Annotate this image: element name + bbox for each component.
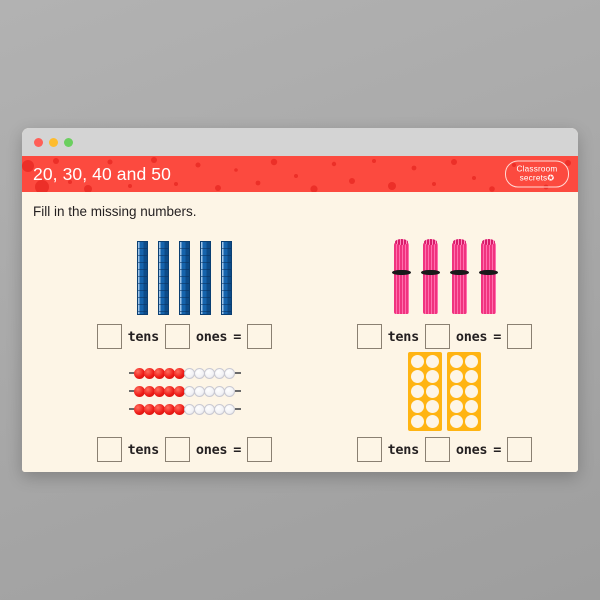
frame-dot: [426, 400, 439, 413]
ten-frames-group: [332, 347, 557, 435]
frame-dot: [450, 385, 463, 398]
frame-dot: [450, 415, 463, 428]
frame-dot: [450, 355, 463, 368]
bundle-tie: [392, 270, 411, 275]
frame-dot: [411, 400, 424, 413]
answer-row-4: tens ones =: [332, 437, 557, 462]
app-window: 20, 30, 40 and 50 Classroom secrets✪ Fil…: [22, 128, 578, 472]
answer-row-1: tens ones =: [72, 324, 297, 349]
frame-dot: [450, 400, 463, 413]
abacus-wire: [235, 390, 241, 392]
ten-rod: [179, 241, 190, 315]
tens-label: tens: [128, 442, 159, 458]
frame-dot: [465, 400, 478, 413]
classroom-secrets-logo: Classroom secrets✪: [505, 161, 569, 188]
frame-dot: [450, 370, 463, 383]
question-2: tens ones =: [332, 234, 557, 349]
instruction-text: Fill in the missing numbers.: [33, 204, 197, 219]
bundle-tie: [479, 270, 498, 275]
frame-dot: [465, 385, 478, 398]
blue-ten-rods-group: [72, 234, 297, 322]
total-input[interactable]: [507, 324, 532, 349]
total-input[interactable]: [247, 437, 272, 462]
straw-bundle: [481, 242, 496, 314]
bead-white: [224, 386, 235, 397]
ones-label: ones: [196, 329, 227, 345]
ones-input[interactable]: [165, 437, 190, 462]
answer-row-3: tens ones =: [72, 437, 297, 462]
frame-dot: [426, 370, 439, 383]
bundle-tie: [450, 270, 469, 275]
lesson-banner: 20, 30, 40 and 50 Classroom secrets✪: [22, 156, 578, 192]
frame-dot: [411, 370, 424, 383]
question-4: tens ones =: [332, 347, 557, 462]
bead-abacus: [129, 368, 241, 415]
tens-input[interactable]: [357, 437, 382, 462]
equals-sign: =: [233, 442, 241, 458]
frame-dot: [411, 415, 424, 428]
bundle-top: [395, 239, 408, 245]
ones-label: ones: [196, 442, 227, 458]
tens-input[interactable]: [357, 324, 382, 349]
abacus-wire: [235, 408, 241, 410]
equals-sign: =: [493, 442, 501, 458]
ten-rod: [137, 241, 148, 315]
tens-label: tens: [388, 329, 419, 345]
bead-white: [224, 404, 235, 415]
question-1: tens ones =: [72, 234, 297, 349]
ten-rod: [221, 241, 232, 315]
abacus-row: [129, 368, 241, 379]
straw-bundle: [452, 242, 467, 314]
frame-dot: [426, 385, 439, 398]
frame-dot: [411, 385, 424, 398]
zoom-button[interactable]: [64, 138, 73, 147]
straw-bundles-group: [332, 234, 557, 322]
tens-label: tens: [388, 442, 419, 458]
bead-white: [224, 368, 235, 379]
frame-dot: [465, 355, 478, 368]
frame-dot: [411, 355, 424, 368]
ten-rod: [158, 241, 169, 315]
total-input[interactable]: [247, 324, 272, 349]
logo-line-1: Classroom: [517, 165, 558, 173]
abacus-wire: [235, 372, 241, 374]
straw-bundle: [394, 242, 409, 314]
bundle-top: [482, 239, 495, 245]
minimize-button[interactable]: [49, 138, 58, 147]
frame-dot: [465, 370, 478, 383]
tens-input[interactable]: [97, 324, 122, 349]
ones-input[interactable]: [165, 324, 190, 349]
ones-input[interactable]: [425, 324, 450, 349]
question-3: tens ones =: [72, 347, 297, 462]
tens-label: tens: [128, 329, 159, 345]
ones-label: ones: [456, 442, 487, 458]
abacus-row: [129, 386, 241, 397]
frame-dot: [426, 415, 439, 428]
close-button[interactable]: [34, 138, 43, 147]
answer-row-2: tens ones =: [332, 324, 557, 349]
bundle-tie: [421, 270, 440, 275]
bundle-top: [424, 239, 437, 245]
ten-rod: [200, 241, 211, 315]
ten-frame: [447, 352, 481, 431]
frame-dot: [426, 355, 439, 368]
page-title: 20, 30, 40 and 50: [33, 164, 171, 185]
equals-sign: =: [233, 329, 241, 345]
total-input[interactable]: [507, 437, 532, 462]
abacus-row: [129, 404, 241, 415]
window-titlebar: [22, 128, 578, 156]
logo-line-2: secrets✪: [520, 175, 555, 183]
tens-input[interactable]: [97, 437, 122, 462]
ten-frame: [408, 352, 442, 431]
worksheet-body: Fill in the missing numbers. tens ones =: [22, 192, 578, 472]
abacus-group: [72, 347, 297, 435]
ones-input[interactable]: [425, 437, 450, 462]
ones-label: ones: [456, 329, 487, 345]
straw-bundle: [423, 242, 438, 314]
frame-dot: [465, 415, 478, 428]
bundle-top: [453, 239, 466, 245]
equals-sign: =: [493, 329, 501, 345]
